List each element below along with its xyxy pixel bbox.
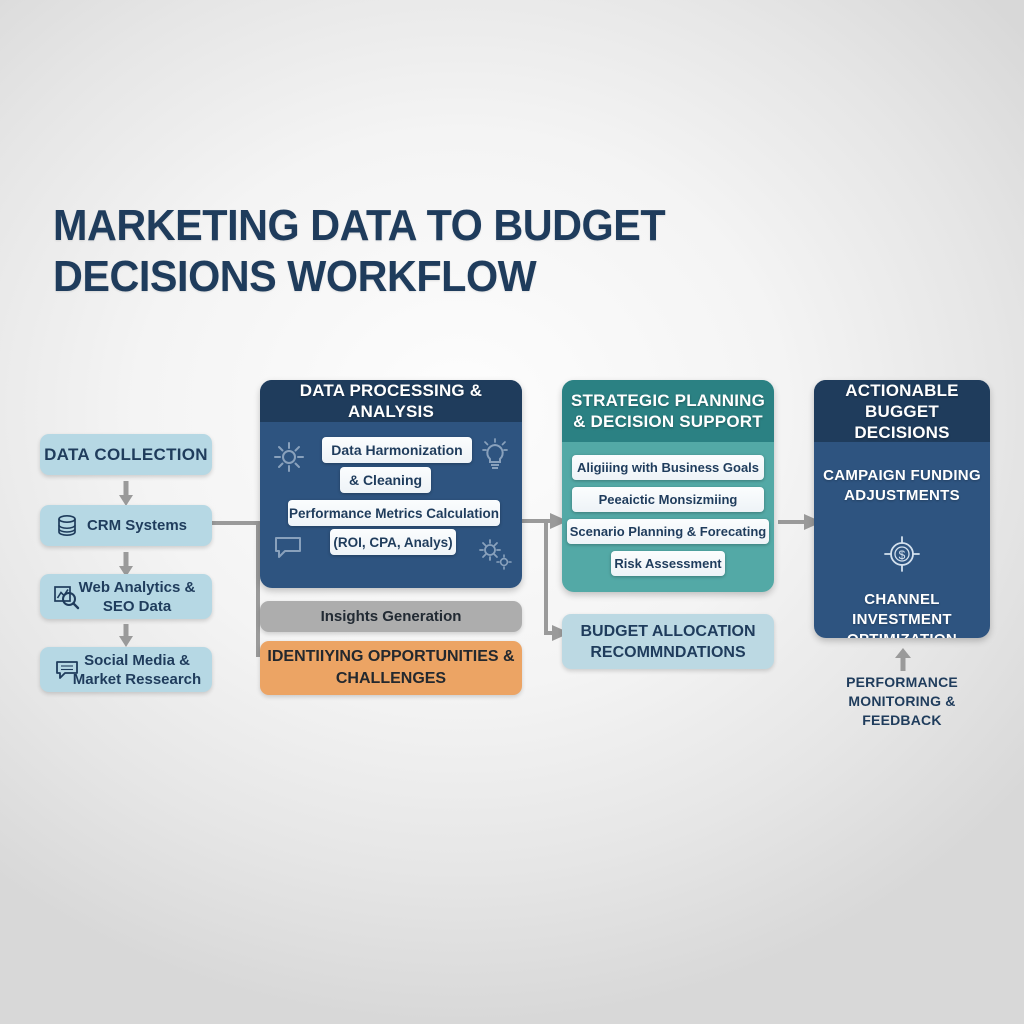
column2-chip-2[interactable]: Performance Metrics Calculation <box>288 500 500 526</box>
arrow-header-to-crm <box>118 481 134 507</box>
column4-header-label: ACTIONABLE BUGGET DECISIONS <box>824 380 980 443</box>
column1-item-crm[interactable]: CRM Systems <box>40 505 212 546</box>
column2-chip-0-label: Data Harmonization <box>331 442 462 458</box>
gear-icon <box>272 440 306 479</box>
column2-chip-3[interactable]: (ROI, CPA, Analys) <box>330 529 456 555</box>
svg-text:$: $ <box>899 548 906 562</box>
column4-panel: ACTIONABLE BUGGET DECISIONS CAMPAIGN FUN… <box>814 380 990 638</box>
column2-panel: DATA PROCESSING & ANALYSIS <box>260 380 522 588</box>
diagram-canvas: MARKETING DATA TO BUDGET DECISIONS WORKF… <box>0 0 1024 1024</box>
column3-chip-1[interactable]: Peeaictic Monsizmiing <box>572 487 764 512</box>
campaign-funding-text: CAMPAIGN FUNDING ADJUSTMENTS <box>814 466 990 506</box>
column3-header: STRATEGIC PLANNING & DECISION SUPPORT <box>562 380 774 442</box>
target-dollar-icon: $ <box>882 534 922 579</box>
column4-header: ACTIONABLE BUGGET DECISIONS <box>814 380 990 442</box>
column1-item-social-media[interactable]: Social Media & Market Ressearch <box>40 647 212 692</box>
column1-header-label: DATA COLLECTION <box>44 445 208 464</box>
column2-chip-1[interactable]: & Cleaning <box>340 467 431 493</box>
performance-monitoring-label: PERFORMANCE MONITORING & FEEDBACK <box>846 674 958 728</box>
gears-icon <box>476 537 514 576</box>
lightbulb-icon <box>480 438 510 477</box>
column3-chip-0-label: Aligiiing with Business Goals <box>577 460 759 475</box>
channel-investment-label: CHANNEL INVESTMENT OPTIMIZATION <box>847 591 957 638</box>
up-arrow-icon <box>894 647 912 671</box>
channel-investment-text: CHANNEL INVESTMENT OPTIMIZATION <box>814 590 990 638</box>
column2-chip-2-label: Performance Metrics Calculation <box>289 506 499 521</box>
insights-generation-box[interactable]: Insights Generation <box>260 601 522 632</box>
column1-item-web-analytics[interactable]: Web Analytics & SEO Data <box>40 574 212 619</box>
budget-allocation-box[interactable]: BUDGET ALLOCATION RECOMMNDATIONS <box>562 614 774 669</box>
column3-chip-2-label: Scenario Planning & Forecating <box>570 524 766 539</box>
speech-bubble-icon <box>272 535 304 566</box>
page-title: MARKETING DATA TO BUDGET DECISIONS WORKF… <box>53 200 880 302</box>
speech-bubble-icon <box>52 655 82 685</box>
column3-chip-2[interactable]: Scenario Planning & Forecating <box>567 519 769 544</box>
column2-chip-3-label: (ROI, CPA, Analys) <box>333 535 452 550</box>
database-icon <box>52 511 82 541</box>
column3-chip-3-label: Risk Assessment <box>614 556 721 571</box>
column3-chip-1-label: Peeaictic Monsizmiing <box>599 492 738 507</box>
column3-chip-3[interactable]: Risk Assessment <box>611 551 725 576</box>
column3-panel: STRATEGIC PLANNING & DECISION SUPPORT Al… <box>562 380 774 592</box>
opportunities-challenges-label: IDENTIIYING OPPORTUNITIES & CHALLENGES <box>260 646 522 690</box>
budget-allocation-label: BUDGET ALLOCATION RECOMMNDATIONS <box>562 621 774 663</box>
column4-body: CAMPAIGN FUNDING ADJUSTMENTS $ CHANNEL I… <box>814 442 990 638</box>
performance-monitoring-note: PERFORMANCE MONITORING & FEEDBACK <box>812 673 992 730</box>
column2-header: DATA PROCESSING & ANALYSIS <box>260 380 522 422</box>
opportunities-challenges-box[interactable]: IDENTIIYING OPPORTUNITIES & CHALLENGES <box>260 641 522 695</box>
analytics-search-icon <box>52 582 82 612</box>
campaign-funding-label: CAMPAIGN FUNDING ADJUSTMENTS <box>823 467 981 504</box>
column3-body: Aligiiing with Business Goals Peeaictic … <box>562 442 774 592</box>
insights-generation-label: Insights Generation <box>321 608 462 625</box>
column2-chip-1-label: & Cleaning <box>349 472 422 488</box>
column2-chip-0[interactable]: Data Harmonization <box>322 437 472 463</box>
column3-header-label: STRATEGIC PLANNING & DECISION SUPPORT <box>570 390 766 432</box>
column2-header-label: DATA PROCESSING & ANALYSIS <box>260 380 522 422</box>
column3-chip-0[interactable]: Aligiiing with Business Goals <box>572 455 764 480</box>
column1-header: DATA COLLECTION <box>40 434 212 475</box>
column2-body: Data Harmonization & Cleaning Performanc… <box>260 422 522 588</box>
